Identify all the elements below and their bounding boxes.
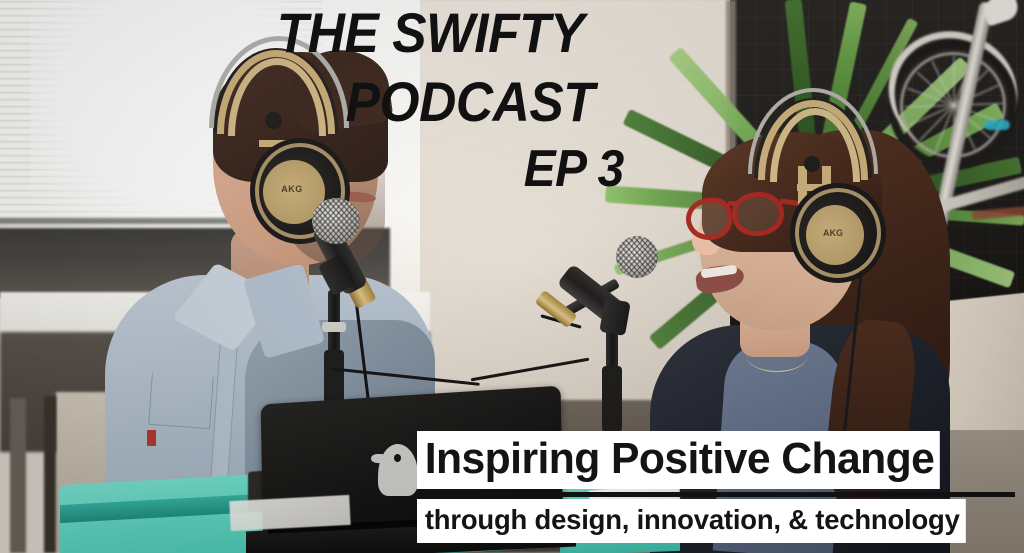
lower-third-rule xyxy=(417,492,1015,497)
shirt-pocket xyxy=(148,373,213,429)
lower-third-subhead: through design, innovation, & technology xyxy=(417,499,966,543)
door-gap xyxy=(44,396,56,553)
mic-grille xyxy=(616,236,658,278)
headphone-brand-label: AKG xyxy=(277,183,307,195)
lower-third-headline: Inspiring Positive Change xyxy=(417,431,940,489)
mic-stand-collar xyxy=(322,322,346,332)
necklace xyxy=(746,338,808,372)
door-frame xyxy=(10,398,26,553)
microphone-right xyxy=(540,228,680,433)
paper-sheet-2 xyxy=(229,495,350,531)
headphone-brand-label: AKG xyxy=(818,227,848,239)
lower-third: Inspiring Positive Change through design… xyxy=(417,431,1015,543)
mic-clip xyxy=(599,298,631,336)
video-thumbnail: AKG xyxy=(0,0,1024,553)
shirt-tag xyxy=(147,430,156,446)
bird-logo-icon xyxy=(374,438,420,496)
akg-logo-icon xyxy=(265,112,282,129)
eyeglasses-bridge xyxy=(728,201,740,206)
mic-grille xyxy=(312,198,360,244)
akg-logo-icon xyxy=(804,156,820,172)
mic-stand-sleeve xyxy=(602,366,622,432)
